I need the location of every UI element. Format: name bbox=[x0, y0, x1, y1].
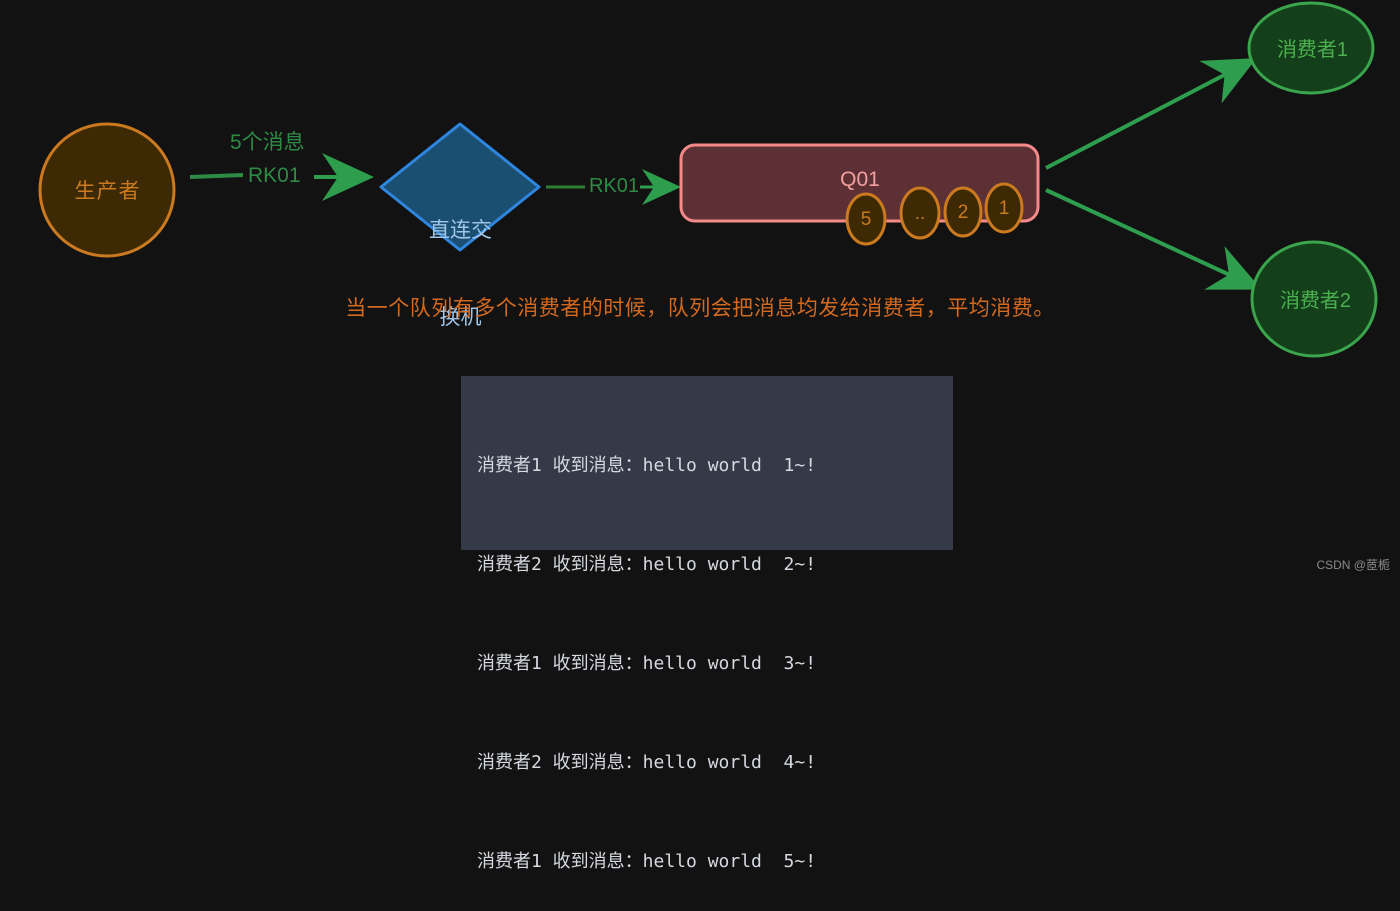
caption-text: 当一个队列有多个消费者的时候，队列会把消息均发给消费者，平均消费。 bbox=[0, 292, 1400, 322]
console-line: 消费者2 收到消息：hello world 4~! bbox=[477, 746, 947, 779]
console-line: 消费者1 收到消息：hello world 5~! bbox=[477, 845, 947, 878]
edge-queue-consumer2 bbox=[1046, 190, 1258, 288]
console-line: 消费者1 收到消息：hello world 1~! bbox=[477, 449, 947, 482]
message-bubble[interactable] bbox=[847, 194, 885, 244]
exchange-node[interactable] bbox=[381, 124, 539, 250]
edge-queue-consumer1 bbox=[1046, 60, 1253, 168]
watermark: CSDN @茝栀 bbox=[1316, 556, 1390, 573]
console-line: 消费者2 收到消息：hello world 2~! bbox=[477, 548, 947, 581]
edge-producer-exchange-left bbox=[190, 175, 243, 177]
message-bubble[interactable] bbox=[945, 188, 981, 236]
console-output-lines: 消费者1 收到消息：hello world 1~! 消费者2 收到消息：hell… bbox=[477, 383, 947, 911]
consumer1-node[interactable] bbox=[1249, 3, 1373, 93]
message-bubble[interactable] bbox=[986, 184, 1022, 232]
message-bubble[interactable] bbox=[901, 188, 939, 238]
console-line: 消费者1 收到消息：hello world 3~! bbox=[477, 647, 947, 680]
